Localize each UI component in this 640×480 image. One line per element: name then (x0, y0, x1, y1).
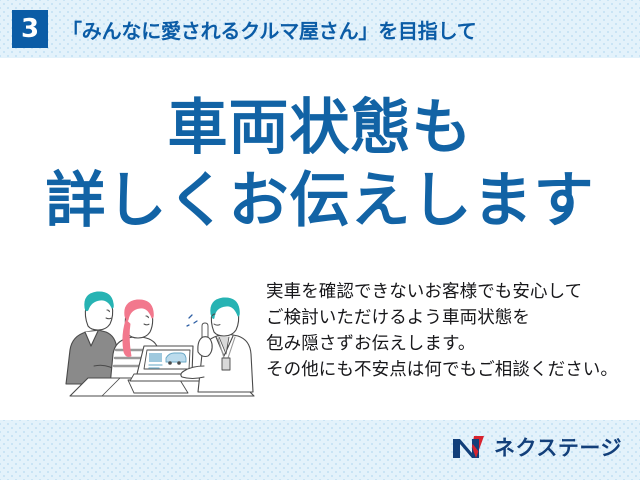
banner-footer: ネクステージ (0, 420, 640, 480)
headline-block: 車両状態も 詳しくお伝えします (0, 96, 640, 234)
body-line-3: 包み隠さずお伝えします。 (266, 330, 626, 356)
brand-logo: ネクステージ (452, 432, 622, 462)
consultation-illustration (58, 274, 258, 398)
advertisement-banner: 3 「みんなに愛されるクルマ屋さん」を目指して 車両状態も 詳しくお伝えします (0, 0, 640, 480)
brand-logo-text: ネクステージ (494, 432, 622, 462)
banner-header: 3 「みんなに愛されるクルマ屋さん」を目指して (0, 0, 640, 58)
body-paragraph: 実車を確認できないお客様でも安心して ご検討いただけるよう車両状態を 包み隠さず… (266, 278, 626, 382)
headline-line-2: 詳しくお伝えします (0, 169, 640, 234)
headline-line-1: 車両状態も (0, 96, 640, 161)
body-line-2: ご検討いただけるよう車両状態を (266, 304, 626, 330)
step-number-badge: 3 (12, 10, 48, 48)
body-line-4: その他にも不安点は何でもご相談ください。 (266, 356, 626, 382)
header-title: 「みんなに愛されるクルマ屋さん」を目指して (62, 15, 477, 44)
nextage-n-mark-icon (452, 434, 486, 460)
body-line-1: 実車を確認できないお客様でも安心して (266, 278, 626, 304)
bottom-row: 実車を確認できないお客様でも安心して ご検討いただけるよう車両状態を 包み隠さず… (0, 270, 640, 420)
content-card: 車両状態も 詳しくお伝えします (0, 58, 640, 420)
